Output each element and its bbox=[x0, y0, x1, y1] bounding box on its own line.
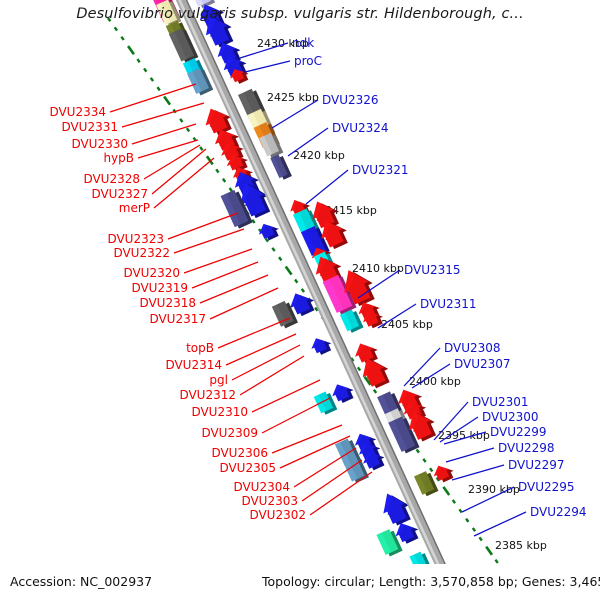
genome-backbone[interactable] bbox=[176, 0, 457, 599]
genome-map-canvas[interactable] bbox=[0, 0, 600, 600]
accession-text: Accession: NC_002937 bbox=[10, 574, 152, 589]
status-divider bbox=[0, 564, 600, 565]
ruler-dashed-line bbox=[108, 18, 518, 591]
topology-text: Topology: circular; Length: 3,570,858 bp… bbox=[262, 574, 600, 589]
status-bar: Accession: NC_002937 Topology: circular;… bbox=[0, 564, 600, 600]
page-title: Desulfovibrio vulgaris subsp. vulgaris s… bbox=[0, 6, 600, 22]
gene-feature[interactable] bbox=[308, 333, 334, 357]
gene-feature[interactable] bbox=[270, 153, 292, 181]
gene-feature[interactable] bbox=[431, 461, 457, 485]
genome-viewer[interactable]: Desulfovibrio vulgaris subsp. vulgaris s… bbox=[0, 0, 600, 600]
